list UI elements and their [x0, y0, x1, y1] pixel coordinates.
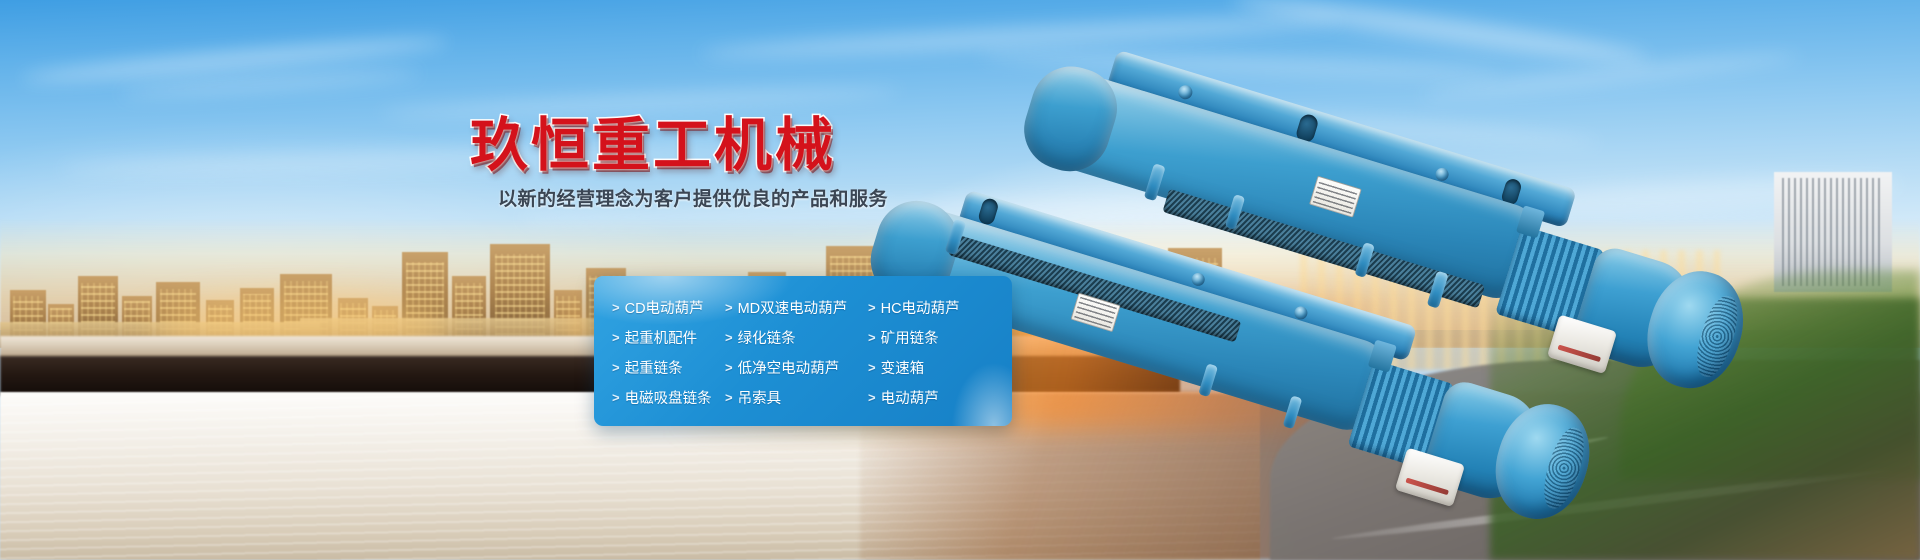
product-link[interactable]: >绿化链条: [725, 327, 868, 348]
product-link[interactable]: >吊索具: [725, 387, 868, 408]
product-link-label: 电磁吸盘链条: [625, 387, 712, 408]
product-link-label: 起重链条: [625, 357, 683, 378]
chevron-right-icon: >: [612, 330, 620, 345]
chevron-right-icon: >: [612, 300, 620, 315]
product-link-label: MD双速电动葫芦: [738, 297, 848, 318]
chevron-right-icon: >: [612, 360, 620, 375]
chevron-right-icon: >: [725, 330, 733, 345]
promotional-banner: 玖恒重工机械 以新的经营理念为客户提供优良的产品和服务 >CD电动葫芦>MD双速…: [0, 0, 1920, 560]
product-link[interactable]: >MD双速电动葫芦: [725, 297, 868, 318]
product-link[interactable]: >电磁吸盘链条: [612, 387, 725, 408]
chevron-right-icon: >: [868, 360, 876, 375]
product-link-label: HC电动葫芦: [881, 297, 960, 318]
product-link[interactable]: >起重机配件: [612, 327, 725, 348]
chevron-right-icon: >: [868, 330, 876, 345]
product-link[interactable]: >低净空电动葫芦: [725, 357, 868, 378]
page-title: 玖恒重工机械: [470, 116, 990, 177]
product-link-label: 低净空电动葫芦: [738, 357, 840, 378]
cloud-wisp: [1231, 0, 1650, 69]
product-link[interactable]: >HC电动葫芦: [868, 297, 998, 318]
product-link[interactable]: >CD电动葫芦: [612, 297, 725, 318]
product-link-label: CD电动葫芦: [625, 297, 704, 318]
product-link[interactable]: >矿用链条: [868, 327, 998, 348]
page-subtitle: 以新的经营理念为客户提供优良的产品和服务: [498, 184, 1058, 211]
chevron-right-icon: >: [725, 300, 733, 315]
chevron-right-icon: >: [868, 300, 876, 315]
product-link-label: 矿用链条: [881, 327, 939, 348]
product-link[interactable]: >变速箱: [868, 357, 998, 378]
chevron-right-icon: >: [725, 360, 733, 375]
product-link[interactable]: >电动葫芦: [868, 387, 998, 408]
product-link[interactable]: >起重链条: [612, 357, 725, 378]
product-link-label: 起重机配件: [625, 327, 698, 348]
product-link-label: 电动葫芦: [881, 387, 939, 408]
product-link-label: 变速箱: [881, 357, 925, 378]
product-link-label: 绿化链条: [738, 327, 796, 348]
product-link-label: 吊索具: [738, 387, 782, 408]
product-links-panel: >CD电动葫芦>MD双速电动葫芦>HC电动葫芦>起重机配件>绿化链条>矿用链条>…: [594, 276, 1012, 426]
chevron-right-icon: >: [612, 390, 620, 405]
chevron-right-icon: >: [868, 390, 876, 405]
chevron-right-icon: >: [725, 390, 733, 405]
